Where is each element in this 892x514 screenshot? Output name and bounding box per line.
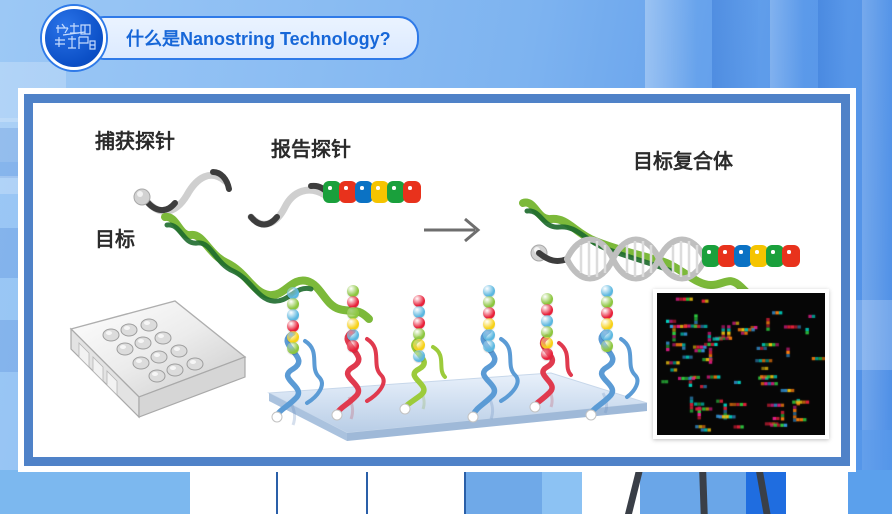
fluorescence-barcode-field [657,293,825,435]
barcode-bead [403,181,421,203]
bottom-segment-5 [368,470,464,514]
label-reporter-probe: 报告探针 [271,133,351,162]
nanostring-cartridge [63,293,253,443]
bottom-decoration-strip [0,470,892,514]
bottom-segment-12 [786,470,848,514]
bottom-segment-8 [542,470,582,514]
bottom-segment-3 [278,470,366,514]
content-frame-border: 捕获探针 报告探针 目标 目标复合体 [24,94,850,466]
slide-title-pill: 什么是Nanostring Technology? [84,16,419,60]
bottom-segment-7 [466,470,542,514]
reporter-barcode [323,181,419,203]
content-frame-outer: 捕获探针 报告探针 目标 目标复合体 [18,88,856,472]
surface-molecules-illustration [251,281,651,457]
target-complex-barcode [702,245,798,267]
barcode-bead [782,245,800,267]
bottom-segment-0 [0,470,190,514]
header: 什么是Nanostring Technology? [42,14,419,62]
fluorescence-image-frame [653,289,829,439]
diagram-card: 捕获探针 报告探针 目标 目标复合体 [33,103,841,457]
bottom-segment-10 [640,470,746,514]
process-arrow-icon [421,213,487,247]
background-accent-right-1 [854,300,892,370]
qa-program-logo-icon [42,6,106,70]
slide-root: 什么是Nanostring Technology? 捕获探针 报告探针 目标 目… [0,0,892,514]
label-target-complex: 目标复合体 [633,145,733,174]
page-title: 什么是Nanostring Technology? [126,25,391,51]
logo-glyph-icon [51,15,97,61]
bottom-segment-1 [190,470,276,514]
bottom-segment-13 [848,470,892,514]
label-capture-probe: 捕获探针 [95,125,175,154]
